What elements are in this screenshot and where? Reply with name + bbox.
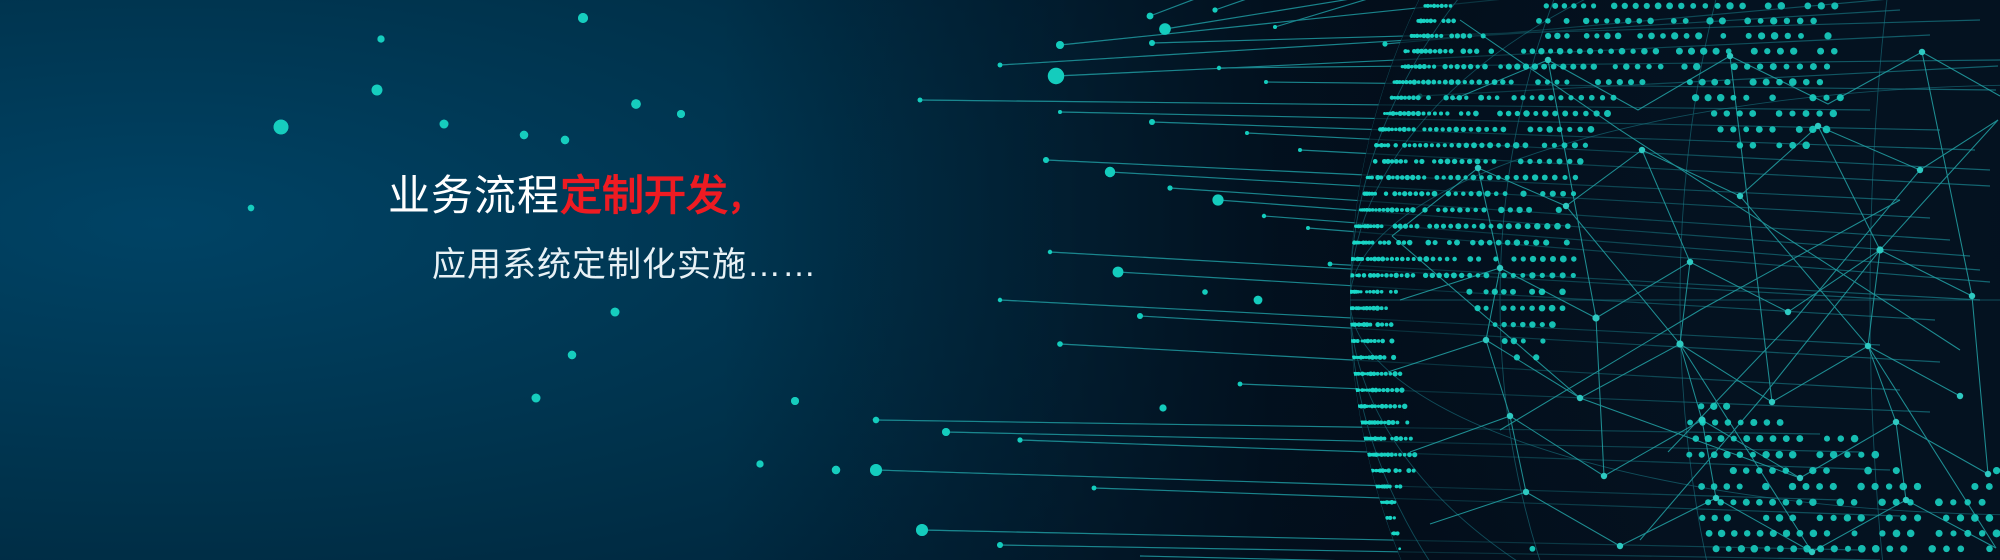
headline-plain-text: 业务流程 [388,172,560,219]
headline-accent-comma: ， [728,180,763,218]
headline-line-2: 应用系统定制化实施…… [432,242,817,288]
globe-group [1349,0,2000,560]
headline-accent-text: 定制开发 [560,172,728,219]
headline-line-1: 业务流程定制开发， [388,170,763,225]
network-globe-artwork-foreground [0,0,2000,560]
hero-banner: 业务流程定制开发， 应用系统定制化实施…… [0,0,2000,560]
